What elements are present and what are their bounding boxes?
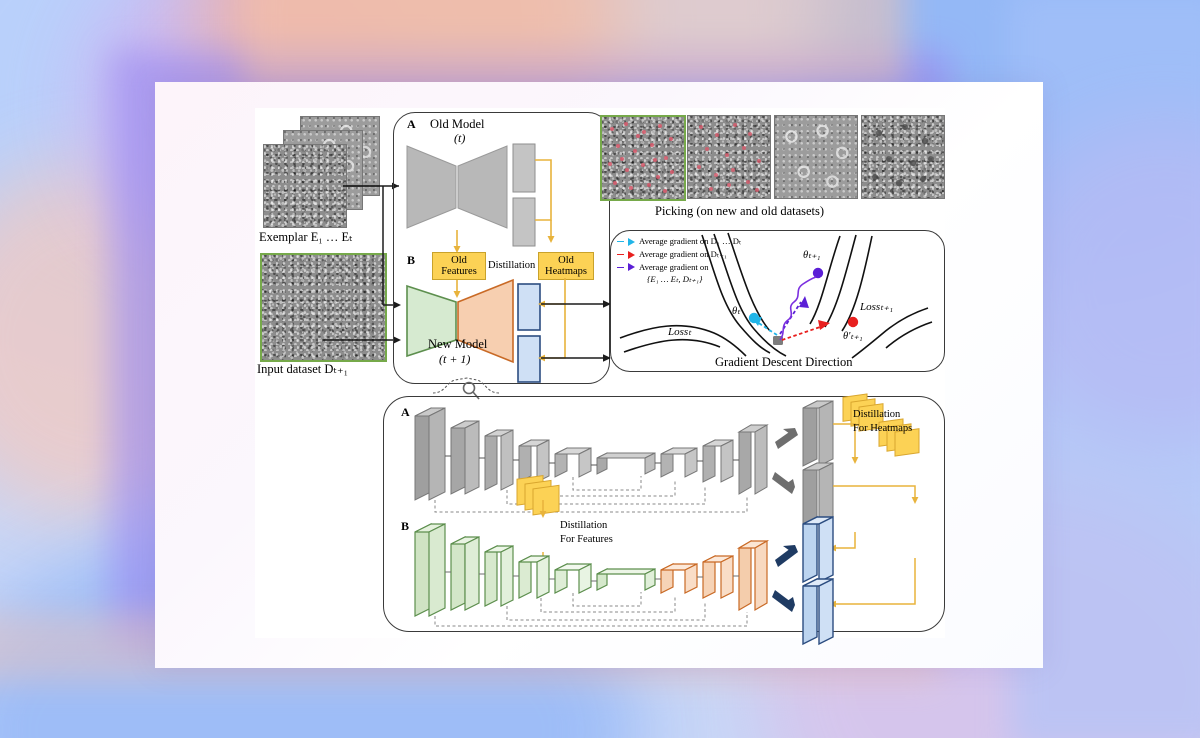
bg-rect-orange [245, 0, 905, 90]
detailed-network-row-b [255, 108, 945, 638]
figure-canvas: Exemplar E₁ … Eₜ Input dataset Dₜ₊₁ A Ol… [255, 108, 945, 638]
